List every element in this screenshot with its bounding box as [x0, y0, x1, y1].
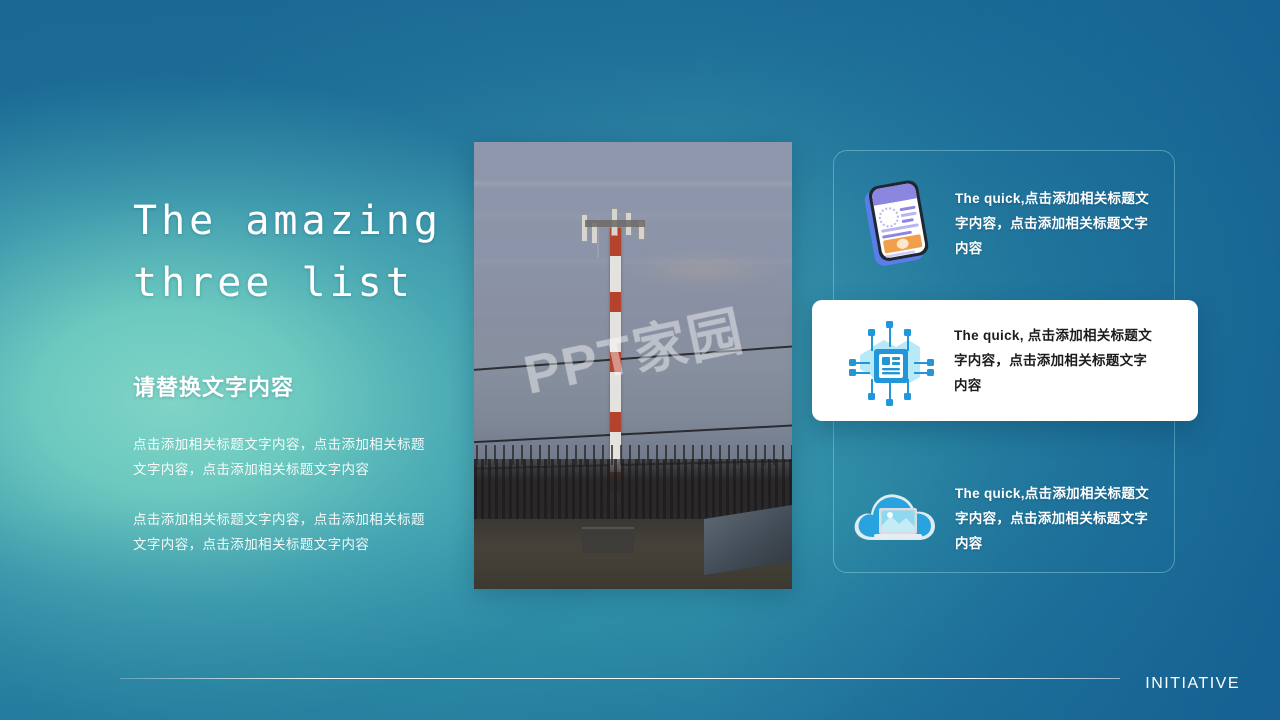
photo-hut — [582, 527, 634, 553]
slide-canvas: The amazing three list 请替换文字内容 点击添加相关标题文… — [0, 0, 1280, 720]
tower-photo: PPT家园 — [474, 142, 792, 589]
left-content-block: The amazing three list 请替换文字内容 点击添加相关标题文… — [133, 190, 463, 557]
list-item-label: The quick, 点击添加相关标题文字内容，点击添加相关标题文字内容 — [954, 323, 1159, 398]
page-title: The amazing three list — [133, 190, 463, 314]
list-item-label: The quick,点击添加相关标题文字内容，点击添加相关标题文字内容 — [955, 186, 1155, 261]
power-line — [474, 344, 792, 372]
list-item[interactable]: The quick,点击添加相关标题文字内容，点击添加相关标题文字内容 — [845, 463, 1175, 573]
list-item-label: The quick,点击添加相关标题文字内容，点击添加相关标题文字内容 — [955, 481, 1155, 556]
photo-sky — [474, 142, 792, 589]
body-paragraph-1: 点击添加相关标题文字内容，点击添加相关标题文字内容，点击添加相关标题文字内容 — [133, 432, 429, 482]
power-line — [474, 424, 792, 444]
footer-divider — [120, 678, 1120, 679]
cloud-laptop-icon — [849, 470, 945, 566]
list-item-active[interactable]: The quick, 点击添加相关标题文字内容，点击添加相关标题文字内容 — [812, 300, 1198, 421]
list-item[interactable]: The quick,点击添加相关标题文字内容，点击添加相关标题文字内容 — [845, 168, 1175, 278]
page-subtitle: 请替换文字内容 — [133, 370, 463, 402]
body-paragraph-2: 点击添加相关标题文字内容，点击添加相关标题文字内容，点击添加相关标题文字内容 — [133, 507, 429, 557]
cpu-chip-icon — [840, 311, 940, 411]
smartphone-icon — [849, 175, 945, 271]
footer-label: INITIATIVE — [1145, 675, 1240, 693]
cell-tower-antennas — [581, 198, 649, 240]
